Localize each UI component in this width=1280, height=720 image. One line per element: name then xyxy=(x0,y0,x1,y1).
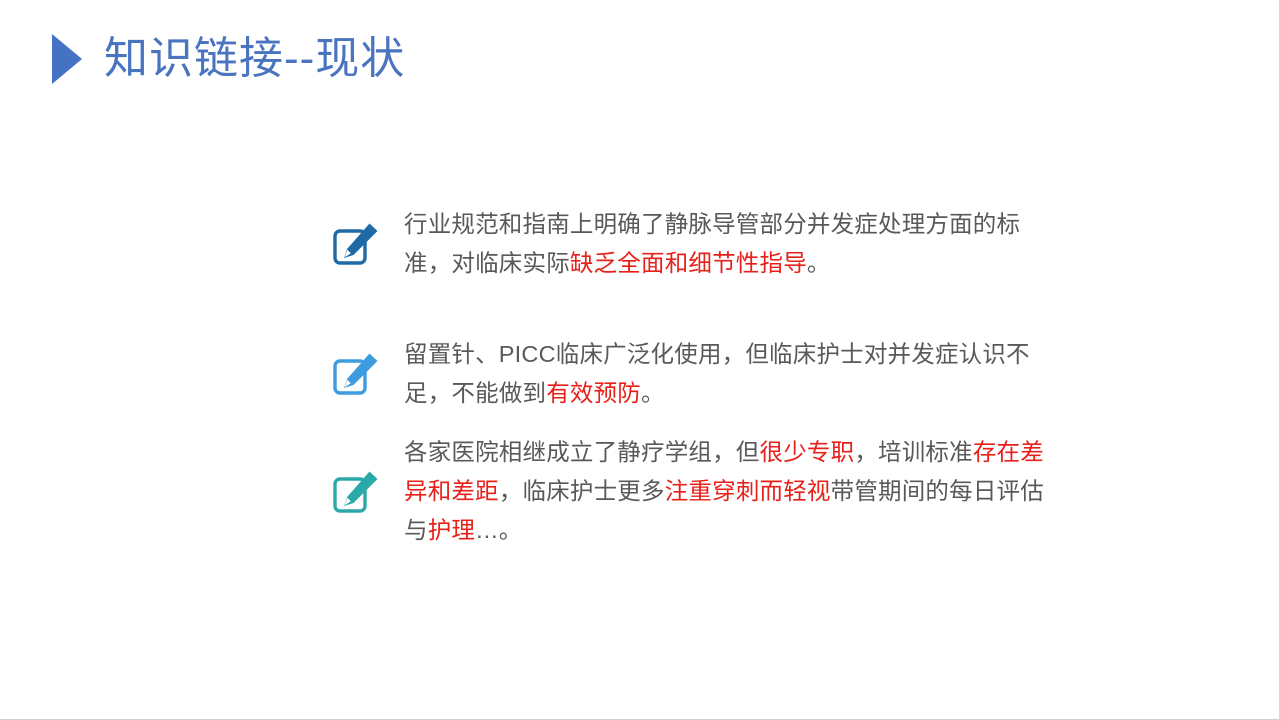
slide-canvas: 知识链接--现状 行业规范和指南上明确了静脉导管部分并发症处理方面的标准，对临床… xyxy=(0,0,1280,720)
text-segment: 。 xyxy=(807,250,831,276)
text-segment-highlight: 有效预防 xyxy=(546,380,641,406)
list-item-text: 行业规范和指南上明确了静脉导管部分并发症处理方面的标准，对临床实际缺乏全面和细节… xyxy=(404,205,1064,283)
page-title: 知识链接--现状 xyxy=(104,37,405,81)
play-triangle-icon xyxy=(52,34,82,84)
slide-title-row: 知识链接--现状 xyxy=(52,34,405,84)
list-item-text: 各家医院相继成立了静疗学组，但很少专职，培训标准存在差异和差距，临床护士更多注重… xyxy=(404,433,1064,550)
edit-pencil-square-icon xyxy=(330,217,384,271)
edit-pencil-square-icon xyxy=(330,347,384,401)
list-item: 留置针、PICC临床广泛化使用，但临床护士对并发症认识不足，不能做到有效预防。 xyxy=(330,335,1090,413)
text-segment: ，临床护士更多 xyxy=(499,478,665,504)
text-segment-highlight: 缺乏全面和细节性指导 xyxy=(570,250,807,276)
edit-pencil-square-icon xyxy=(330,465,384,519)
text-segment: 各家医院相继成立了静疗学组，但 xyxy=(404,439,760,465)
text-segment-highlight: 很少专职 xyxy=(760,439,855,465)
text-segment-highlight: 注重穿刺而轻视 xyxy=(665,478,831,504)
text-segment: ，培训标准 xyxy=(854,439,973,465)
list-item: 行业规范和指南上明确了静脉导管部分并发症处理方面的标准，对临床实际缺乏全面和细节… xyxy=(330,205,1090,283)
text-segment: …。 xyxy=(475,517,522,543)
text-segment: 留置针、PICC临床广泛化使用，但临床护士对并发症认识不足，不能做到 xyxy=(404,341,1030,406)
bullet-list: 行业规范和指南上明确了静脉导管部分并发症处理方面的标准，对临床实际缺乏全面和细节… xyxy=(330,205,1090,550)
text-segment-highlight: 护理 xyxy=(428,517,475,543)
text-segment: 。 xyxy=(641,380,665,406)
list-item-text: 留置针、PICC临床广泛化使用，但临床护士对并发症认识不足，不能做到有效预防。 xyxy=(404,335,1064,413)
list-item: 各家医院相继成立了静疗学组，但很少专职，培训标准存在差异和差距，临床护士更多注重… xyxy=(330,433,1090,550)
